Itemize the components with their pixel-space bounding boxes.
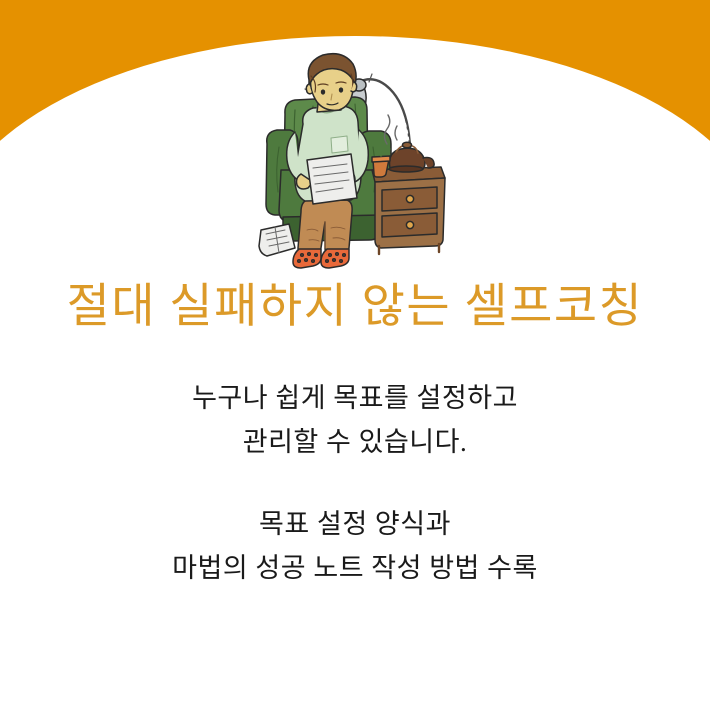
tagline-block: 목표 설정 양식과 마법의 성공 노트 작성 방법 수록 <box>0 503 710 590</box>
crumpled-paper-icon <box>259 224 295 256</box>
paper-document-icon <box>307 154 357 204</box>
orange-socks <box>293 249 349 268</box>
subtitle-line-2: 관리할 수 있습니다. <box>0 421 710 465</box>
poster-canvas: 절대 실패하지 않는 셀프코칭 누구나 쉽게 목표를 설정하고 관리할 수 있습… <box>0 0 710 710</box>
text-content-area: 절대 실패하지 않는 셀프코칭 누구나 쉽게 목표를 설정하고 관리할 수 있습… <box>0 280 710 590</box>
subtitle-line-1: 누구나 쉽게 목표를 설정하고 <box>0 377 710 421</box>
tagline-line-1: 목표 설정 양식과 <box>0 503 710 547</box>
tagline-line-2: 마법의 성공 노트 작성 방법 수록 <box>0 547 710 591</box>
illustration-person-reading-in-armchair <box>255 52 455 277</box>
page-title: 절대 실패하지 않는 셀프코칭 <box>0 280 710 335</box>
subtitle-block: 누구나 쉽게 목표를 설정하고 관리할 수 있습니다. <box>0 377 710 464</box>
wooden-nightstand <box>372 167 445 254</box>
